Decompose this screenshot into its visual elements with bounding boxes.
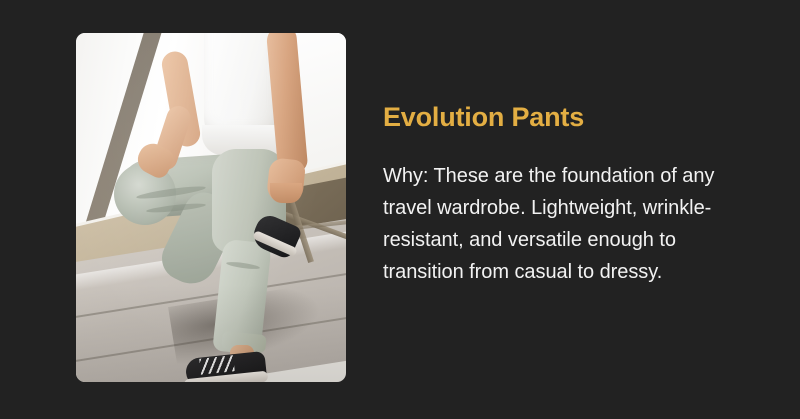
model-figure (76, 33, 346, 382)
text-column: Evolution Pants Why: These are the found… (383, 100, 733, 288)
product-description: Why: These are the foundation of any tra… (383, 134, 733, 288)
product-photo-image (76, 33, 346, 382)
product-photo (76, 33, 346, 382)
right-hand-fingers (270, 183, 302, 203)
product-slide: Evolution Pants Why: These are the found… (0, 0, 800, 419)
product-title: Evolution Pants (383, 100, 733, 134)
